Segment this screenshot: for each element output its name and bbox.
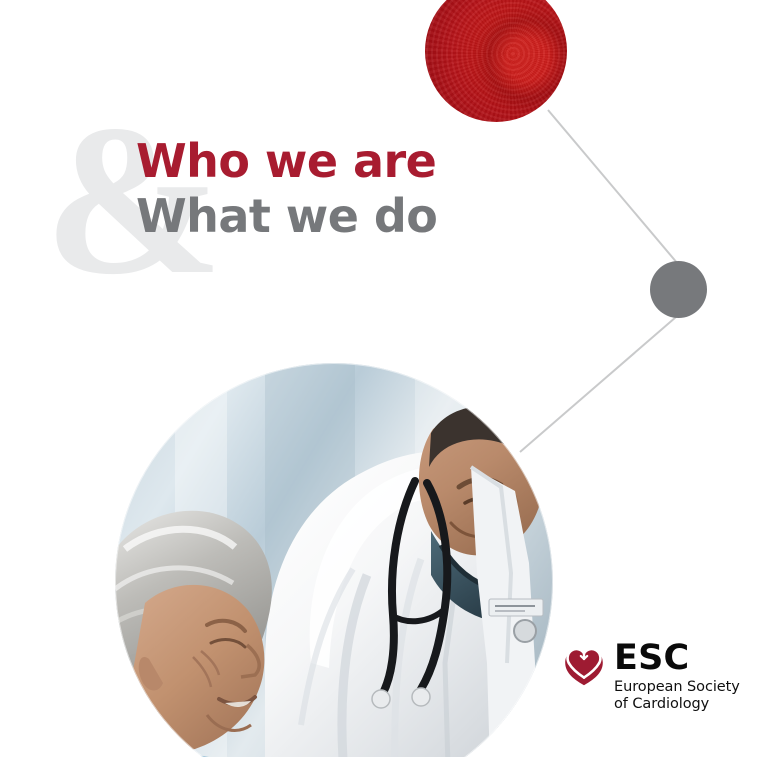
red-blood-cell-image — [425, 0, 567, 122]
esc-logo-text: ESC European Society of Cardiology — [614, 641, 740, 713]
doctor-and-patient-photo — [115, 363, 553, 757]
brochure-cover-page: & Who we are What we do — [0, 0, 757, 757]
gray-node-dot — [650, 261, 707, 318]
esc-tagline-line-2: of Cardiology — [614, 696, 740, 713]
esc-logo: ESC European Society of Cardiology — [563, 641, 740, 713]
esc-acronym: ESC — [614, 641, 740, 676]
headline-line-what-we-do: What we do — [136, 189, 437, 244]
headline-line-who-we-are: Who we are — [136, 134, 437, 189]
esc-heart-icon — [563, 646, 605, 688]
page-title: Who we are What we do — [136, 134, 437, 244]
esc-tagline-line-1: European Society — [614, 679, 740, 696]
